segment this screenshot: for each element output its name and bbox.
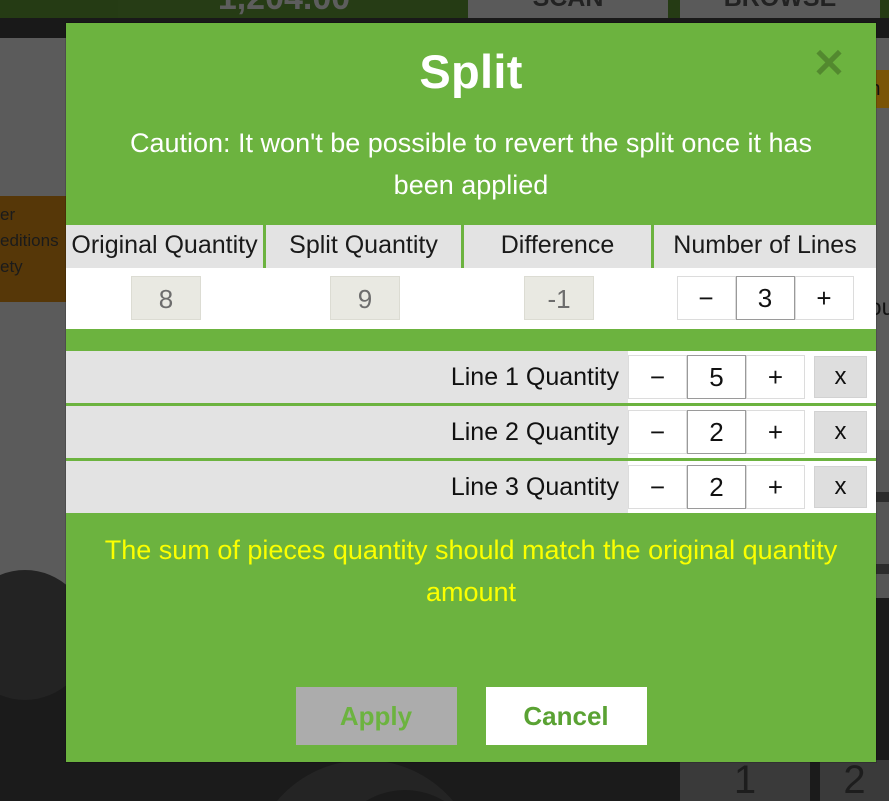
summary-table: Original Quantity Split Quantity Differe…: [66, 225, 876, 329]
line-controls: − 5 + x: [628, 351, 876, 403]
line-label: Line 1 Quantity: [66, 351, 628, 403]
background-bottom-cell: 1: [680, 760, 810, 801]
number-of-lines-increment-button[interactable]: +: [795, 276, 854, 320]
background-bottom-cell: 2: [820, 760, 889, 801]
line-quantity-input[interactable]: 2: [687, 410, 746, 454]
column-header-split-quantity: Split Quantity: [266, 225, 464, 268]
line-row: Line 2 Quantity − 2 + x: [66, 406, 876, 461]
line-remove-button[interactable]: x: [814, 411, 867, 453]
background-left-line-1: er: [0, 202, 66, 228]
original-quantity-value: 8: [131, 276, 201, 320]
line-quantity-input[interactable]: 2: [687, 465, 746, 509]
background-left-line-2: editions: [0, 228, 66, 254]
caution-message: Caution: It won't be possible to revert …: [106, 122, 836, 206]
line-controls: − 2 + x: [628, 461, 876, 513]
background-total-amount: 1,204.00: [118, 0, 450, 18]
line-remove-button[interactable]: x: [814, 466, 867, 508]
background-left-highlight: er editions ety: [0, 196, 66, 302]
column-header-original-quantity: Original Quantity: [66, 225, 266, 268]
background-browse-button[interactable]: BROWSE: [680, 0, 880, 18]
line-increment-button[interactable]: +: [746, 465, 805, 509]
line-increment-button[interactable]: +: [746, 410, 805, 454]
summary-value-row: 8 9 -1 − 3 +: [66, 268, 876, 329]
close-icon[interactable]: ✕: [812, 48, 846, 82]
summary-header-row: Original Quantity Split Quantity Differe…: [66, 225, 876, 268]
line-increment-button[interactable]: +: [746, 355, 805, 399]
number-of-lines-decrement-button[interactable]: −: [677, 276, 736, 320]
line-quantity-input[interactable]: 5: [687, 355, 746, 399]
difference-value: -1: [524, 276, 594, 320]
apply-button[interactable]: Apply: [296, 687, 457, 745]
line-controls: − 2 + x: [628, 406, 876, 458]
table-gap: [66, 329, 876, 351]
background-scan-button[interactable]: SCAN: [468, 0, 668, 18]
cancel-button[interactable]: Cancel: [486, 687, 647, 745]
split-quantity-value: 9: [330, 276, 400, 320]
line-decrement-button[interactable]: −: [628, 410, 687, 454]
background-left-line-3: ety: [0, 254, 66, 280]
line-label: Line 2 Quantity: [66, 406, 628, 458]
line-label: Line 3 Quantity: [66, 461, 628, 513]
line-row: Line 1 Quantity − 5 + x: [66, 351, 876, 406]
number-of-lines-stepper: − 3 +: [677, 276, 854, 320]
number-of-lines-input[interactable]: 3: [736, 276, 795, 320]
column-header-number-of-lines: Number of Lines: [654, 225, 876, 268]
screen: 1,204.00 SCAN BROWSE er editions ety tur…: [0, 0, 889, 801]
split-modal: ✕ Split Caution: It won't be possible to…: [66, 23, 876, 762]
column-header-difference: Difference: [464, 225, 654, 268]
validation-warning: The sum of pieces quantity should match …: [94, 529, 848, 613]
modal-title: Split: [66, 44, 876, 99]
line-remove-button[interactable]: x: [814, 356, 867, 398]
line-list: Line 1 Quantity − 5 + x Line 2 Quantity …: [66, 351, 876, 516]
modal-actions: Apply Cancel: [66, 687, 876, 745]
line-row: Line 3 Quantity − 2 + x: [66, 461, 876, 516]
line-decrement-button[interactable]: −: [628, 355, 687, 399]
line-decrement-button[interactable]: −: [628, 465, 687, 509]
